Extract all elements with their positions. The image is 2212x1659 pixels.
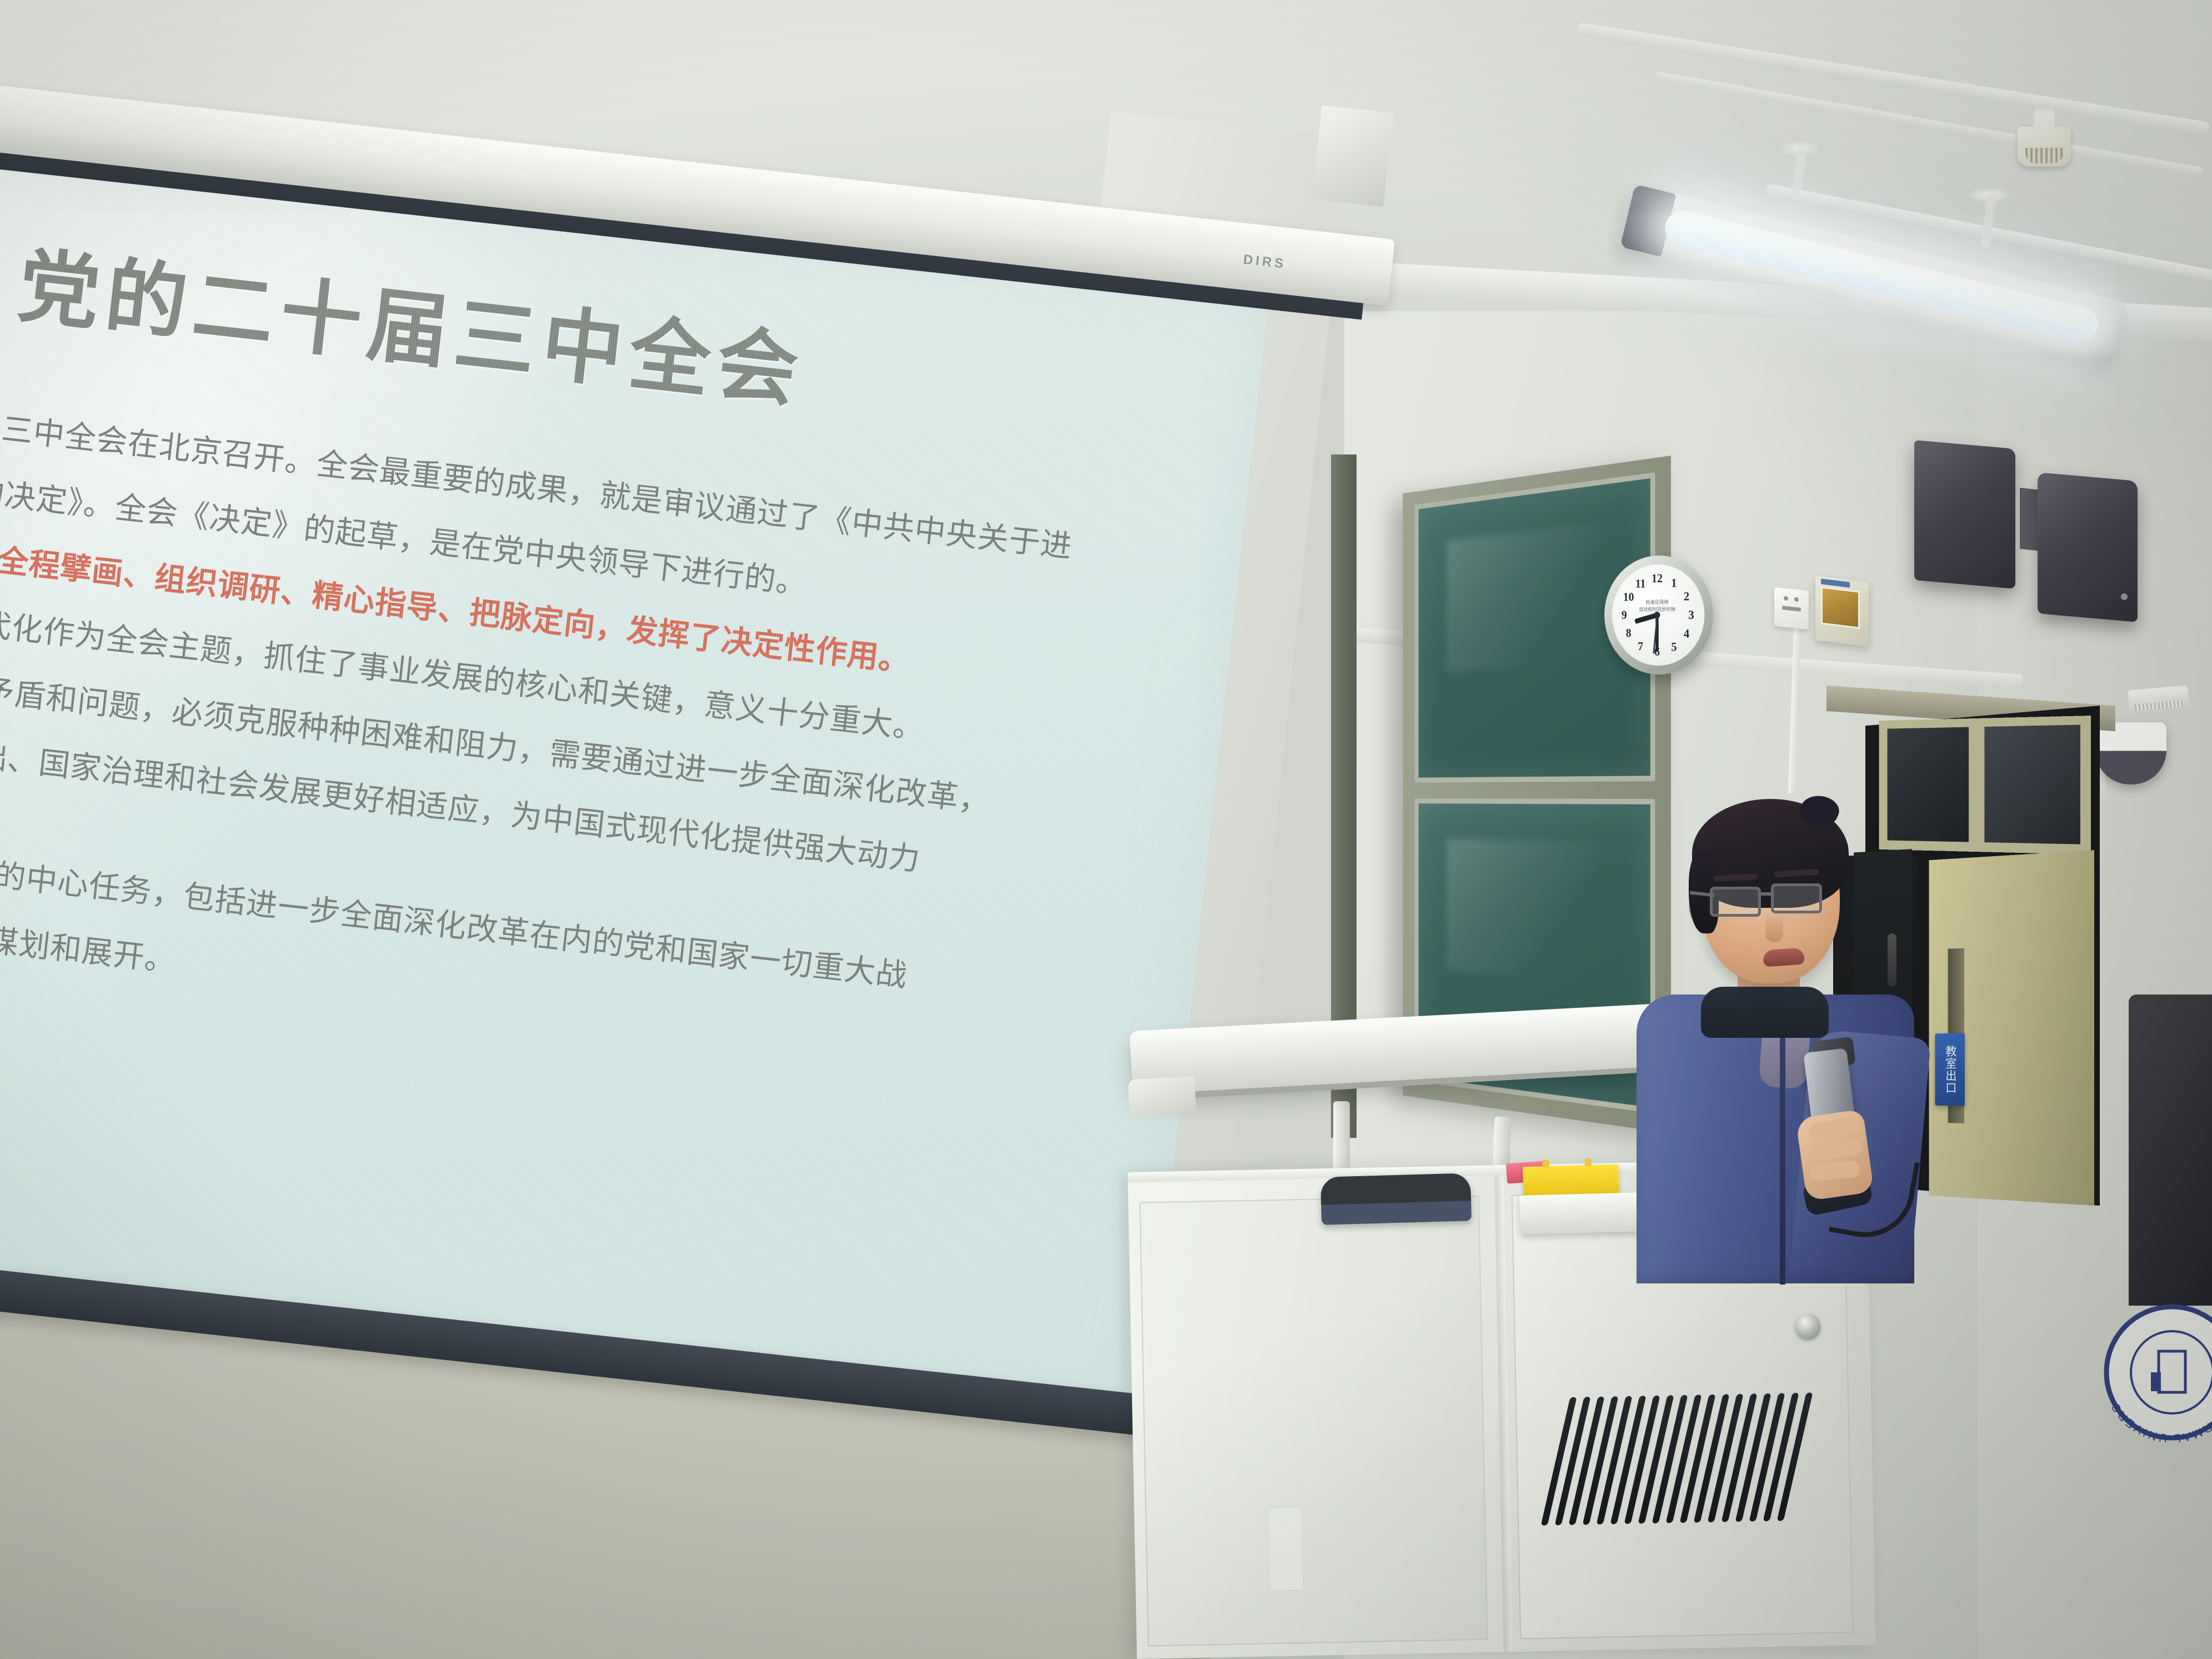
slide-title: 党的二十届三中全会 xyxy=(13,221,812,424)
clock-numeral: 5 xyxy=(1666,641,1682,653)
junction-box-window xyxy=(1821,586,1860,629)
clock-numeral: 2 xyxy=(1679,590,1694,603)
classroom-photo-scene: 标准化母钟 自动校时同步时钟 121234567891011 教室出口 xyxy=(0,0,2212,1659)
wall-speaker-left xyxy=(1914,440,2015,589)
speaker-badge xyxy=(2121,593,2128,600)
jacket-zipper xyxy=(1780,1023,1785,1285)
university-seal-logo: BEIJING NORMAL UNIVERSITY xyxy=(2089,1289,2212,1456)
screen-brand-label: DIRS xyxy=(1243,252,1287,272)
junction-box-label xyxy=(1821,578,1850,587)
clock-numeral: 3 xyxy=(1683,609,1699,622)
clock-numeral: 9 xyxy=(1617,609,1632,621)
glasses-lens-left xyxy=(1710,887,1761,917)
chalkboard-glare xyxy=(1447,839,1632,985)
projection-screen: 党的二十届三中全会 ，党的二十届三中全会在北京召开。全会最重要的成果，就是审议通… xyxy=(0,149,1269,1434)
presentation-slide: 党的二十届三中全会 ，党的二十届三中全会在北京召开。全会最重要的成果，就是审议通… xyxy=(0,149,1269,1434)
console-sticker xyxy=(1268,1507,1304,1591)
presenter xyxy=(1618,772,1929,1272)
exit-sign: 教室出口 xyxy=(1935,1033,1965,1106)
wall-clock: 标准化母钟 自动校时同步时钟 121234567891011 xyxy=(1604,554,1713,677)
jacket-collar xyxy=(1701,987,1829,1038)
clock-numeral: 4 xyxy=(1679,627,1694,640)
glasses-lens-right xyxy=(1771,883,1822,913)
clock-center-pin xyxy=(1654,612,1660,618)
clock-numeral: 6 xyxy=(1649,646,1664,658)
clock-numeral: 1 xyxy=(1666,577,1682,589)
emergency-light xyxy=(2128,685,2189,714)
exit-sign-label: 教室出口 xyxy=(1944,1045,1956,1094)
clock-numeral: 12 xyxy=(1649,572,1664,585)
clock-numeral: 10 xyxy=(1621,591,1636,603)
presenter-nose xyxy=(1765,912,1783,942)
screen-housing-end-bracket xyxy=(1312,105,1394,207)
transom-glass-pane xyxy=(1984,724,2080,844)
clock-numeral: 8 xyxy=(1621,627,1636,639)
slide-body: ，党的二十届三中全会在北京召开。全会最重要的成果，就是审议通过了《中共中央关于进… xyxy=(0,387,1153,1113)
electrical-junction-box xyxy=(1815,576,1869,647)
blackboard-eraser[interactable] xyxy=(1320,1173,1472,1225)
dark-cabinet xyxy=(2129,995,2212,1306)
console-seam xyxy=(1494,1175,1512,1652)
smoke-detector-icon xyxy=(2018,127,2071,167)
presenter-mouth xyxy=(1763,947,1805,967)
clock-numeral: 11 xyxy=(1633,577,1648,589)
console-left-panel xyxy=(1139,1196,1488,1647)
classroom-door[interactable] xyxy=(1929,850,2094,1206)
glasses-bridge xyxy=(1760,892,1773,896)
lectern-left-lip xyxy=(1128,1076,1196,1118)
console-vent-grille xyxy=(1541,1392,1865,1526)
clock-numeral: 7 xyxy=(1633,641,1648,653)
